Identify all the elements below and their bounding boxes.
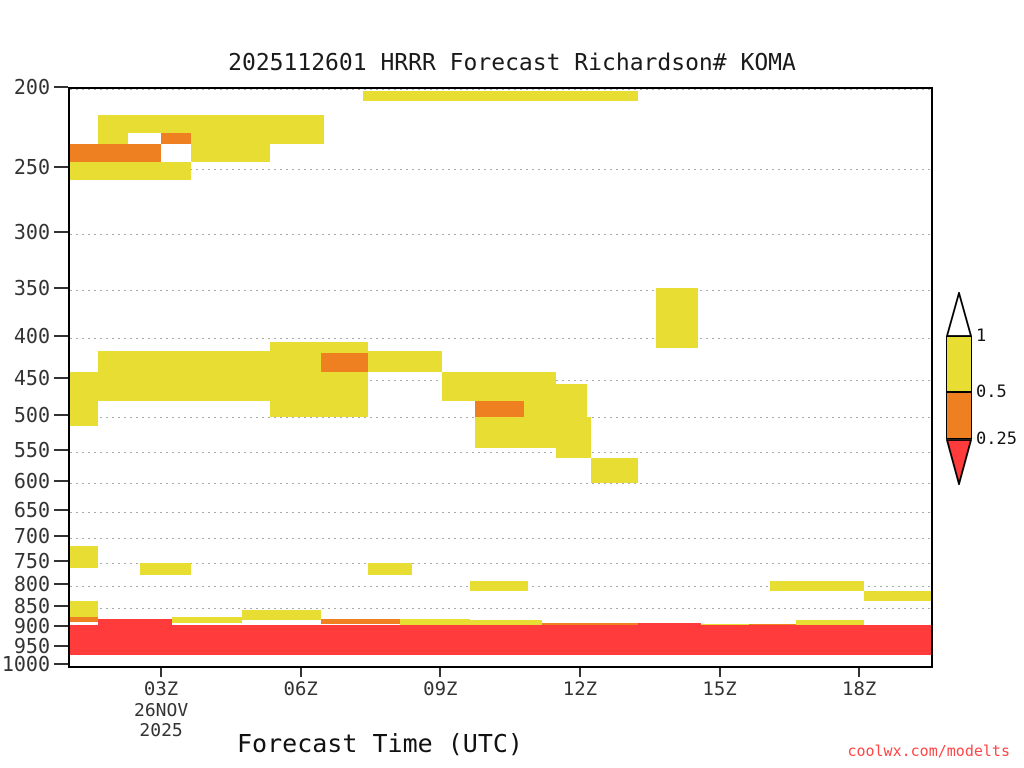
y-axis: 2002503003504004505005506006507007508008…: [0, 87, 68, 668]
x-tick-label-03Z: 03Z: [144, 678, 178, 700]
x-tick-15Z: [719, 668, 721, 677]
heatmap-cell: [140, 563, 191, 575]
colorbar-label-0.5: 0.5: [976, 382, 1007, 402]
credit-watermark: coolwx.com/modelts: [847, 742, 1010, 760]
heatmap-cell: [656, 288, 698, 349]
chart-title: 2025112601 HRRR Forecast Richardson# KOM…: [0, 50, 1024, 76]
heatmap-cell: [98, 351, 270, 372]
surface-line: [70, 655, 931, 659]
y-tick-900: [54, 625, 68, 627]
colorbar-label-1: 1: [976, 326, 986, 346]
heatmap-cell: [470, 581, 528, 591]
y-tick-label-300: 300: [14, 220, 50, 244]
heatmap-cell: [270, 342, 368, 351]
heatmap-cell: [368, 563, 412, 575]
y-tick-200: [54, 86, 68, 88]
colorbar-label-0.25: 0.25: [976, 429, 1017, 449]
heatmap-cell: [556, 417, 591, 458]
y-tick-400: [54, 335, 68, 337]
heatmap-cell: [70, 617, 98, 622]
colorbar-arrow-top: [946, 292, 972, 336]
y-tick-700: [54, 535, 68, 537]
x-tick-12Z: [579, 668, 581, 677]
y-tick-label-800: 800: [14, 572, 50, 596]
plot-area: [68, 87, 933, 668]
x-tick-18Z: [858, 668, 860, 677]
y-tick-600: [54, 480, 68, 482]
y-tick-label-500: 500: [14, 403, 50, 427]
x-axis-date-line: 26NOV: [134, 701, 188, 721]
x-tick-label-18Z: 18Z: [842, 678, 876, 700]
heatmap-cell: [242, 610, 321, 620]
heatmap-cells: [70, 89, 931, 666]
y-tick-label-1000: 1000: [2, 652, 50, 676]
heatmap-cell: [363, 91, 638, 102]
gridline-surface: [70, 666, 931, 667]
colorbar-arrow-bottom: [946, 439, 972, 485]
x-tick-03Z: [160, 668, 162, 677]
heatmap-cell: [70, 372, 98, 426]
y-tick-250: [54, 166, 68, 168]
heatmap-cell: [128, 115, 191, 133]
y-tick-1000: [54, 663, 68, 665]
heatmap-cell: [864, 591, 931, 601]
y-tick-label-350: 350: [14, 276, 50, 300]
x-tick-09Z: [439, 668, 441, 677]
y-tick-label-700: 700: [14, 524, 50, 548]
y-tick-800: [54, 583, 68, 585]
y-tick-label-400: 400: [14, 324, 50, 348]
heatmap-cell: [475, 401, 524, 417]
x-tick-label-15Z: 15Z: [702, 678, 736, 700]
x-axis-title: Forecast Time (UTC): [0, 729, 760, 758]
heatmap-cell: [70, 546, 98, 568]
heatmap-cell: [98, 115, 128, 144]
x-tick-label-09Z: 09Z: [423, 678, 457, 700]
y-tick-350: [54, 287, 68, 289]
y-tick-300: [54, 231, 68, 233]
heatmap-cell: [98, 372, 270, 402]
heatmap-cell: [321, 353, 368, 371]
y-tick-850: [54, 605, 68, 607]
y-tick-500: [54, 414, 68, 416]
y-tick-950: [54, 645, 68, 647]
y-tick-label-600: 600: [14, 469, 50, 493]
x-tick-label-12Z: 12Z: [563, 678, 597, 700]
y-tick-label-200: 200: [14, 75, 50, 99]
heatmap-cell: [591, 458, 638, 483]
heatmap-cell: [172, 617, 242, 624]
chart-page: 2025112601 HRRR Forecast Richardson# KOM…: [0, 0, 1024, 768]
y-tick-650: [54, 509, 68, 511]
heatmap-cell: [191, 115, 270, 162]
y-tick-550: [54, 449, 68, 451]
heatmap-cell: [368, 351, 442, 372]
heatmap-cell: [98, 162, 191, 181]
y-tick-750: [54, 560, 68, 562]
colorbar-legend: 10.50.25: [946, 292, 974, 484]
x-axis: 03Z06Z09Z12Z15Z18Z26NOV2025: [68, 668, 933, 728]
y-tick-label-550: 550: [14, 438, 50, 462]
heatmap-cell: [321, 619, 400, 625]
y-tick-label-750: 750: [14, 549, 50, 573]
heatmap-cell: [70, 144, 98, 162]
heatmap-cell: [70, 162, 98, 181]
heatmap-cell: [270, 115, 324, 144]
heatmap-cell: [70, 625, 931, 657]
x-tick-06Z: [300, 668, 302, 677]
gridline-1000: [70, 666, 931, 667]
heatmap-cell: [556, 384, 586, 418]
heatmap-cell: [161, 133, 191, 144]
heatmap-cell: [475, 417, 556, 448]
heatmap-cell: [770, 581, 863, 591]
heatmap-cell: [98, 144, 161, 162]
heatmap-cell: [70, 601, 98, 617]
y-tick-label-250: 250: [14, 155, 50, 179]
y-tick-label-650: 650: [14, 498, 50, 522]
colorbar-segment: [946, 392, 972, 439]
heatmap-cell: [442, 372, 498, 402]
x-tick-label-06Z: 06Z: [284, 678, 318, 700]
y-tick-label-450: 450: [14, 366, 50, 390]
y-tick-450: [54, 377, 68, 379]
colorbar-segment: [946, 336, 972, 392]
